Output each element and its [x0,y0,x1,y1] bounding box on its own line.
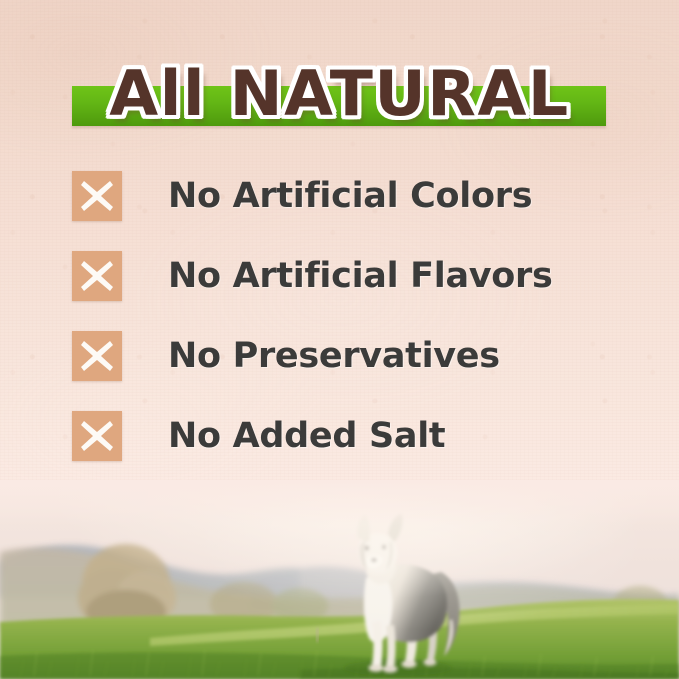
headline-banner: All NATURAL [0,52,679,136]
x-mark-icon [72,331,122,381]
benefit-label: No Artificial Flavors [168,256,553,296]
benefits-list: No Artificial Colors No Artificial Flavo… [72,170,632,490]
x-mark-icon [72,251,122,301]
benefit-item: No Preservatives [72,330,632,382]
banner-title-text: All NATURAL [0,52,679,136]
x-mark-icon [72,411,122,461]
benefit-item: No Artificial Colors [72,170,632,222]
benefit-label: No Artificial Colors [168,176,532,216]
all-natural-product-poster: All NATURAL No Artificial Colors No Arti… [0,0,679,679]
benefit-item: No Added Salt [72,410,632,462]
benefit-label: No Added Salt [168,416,445,456]
landscape-photo [0,480,679,679]
benefit-item: No Artificial Flavors [72,250,632,302]
x-mark-icon [72,171,122,221]
benefit-label: No Preservatives [168,336,500,376]
